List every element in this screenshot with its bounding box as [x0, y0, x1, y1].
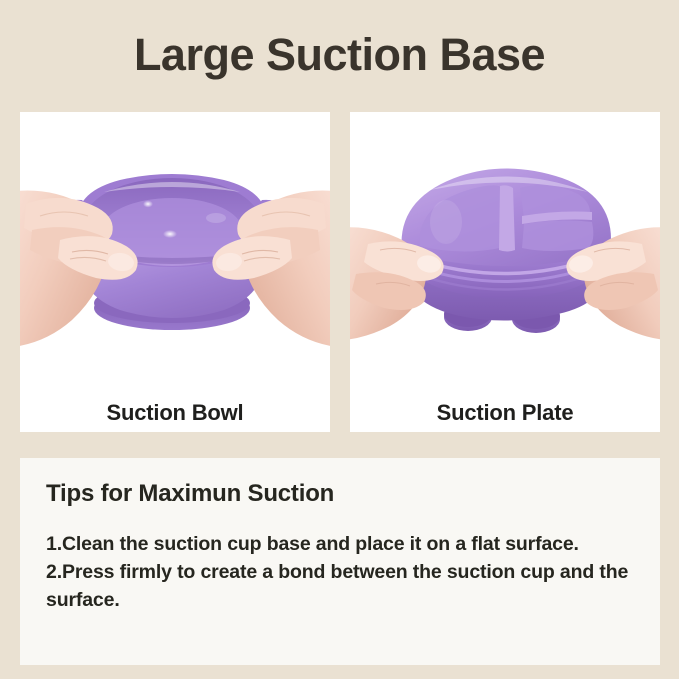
- suction-bowl-illustration: [20, 112, 330, 384]
- caption-suction-bowl: Suction Bowl: [20, 400, 330, 426]
- tip-item-1: 1.Clean the suction cup base and place i…: [46, 530, 642, 558]
- photo-card-suction-plate: Suction Plate: [350, 112, 660, 432]
- suction-plate-photo: [350, 112, 660, 384]
- tips-list: 1.Clean the suction cup base and place i…: [46, 530, 642, 614]
- infographic-page: Large Suction Base: [0, 0, 679, 679]
- tip-item-2: 2.Press firmly to create a bond between …: [46, 558, 642, 614]
- photo-card-suction-bowl: Suction Bowl: [20, 112, 330, 432]
- caption-suction-plate: Suction Plate: [350, 400, 660, 426]
- tips-heading: Tips for Maximun Suction: [46, 480, 334, 508]
- page-title: Large Suction Base: [0, 28, 679, 82]
- suction-bowl-photo: [20, 112, 330, 384]
- photo-row: Suction Bowl: [20, 112, 660, 432]
- suction-plate-illustration: [350, 112, 660, 384]
- tips-panel: Tips for Maximun Suction 1.Clean the suc…: [20, 458, 660, 665]
